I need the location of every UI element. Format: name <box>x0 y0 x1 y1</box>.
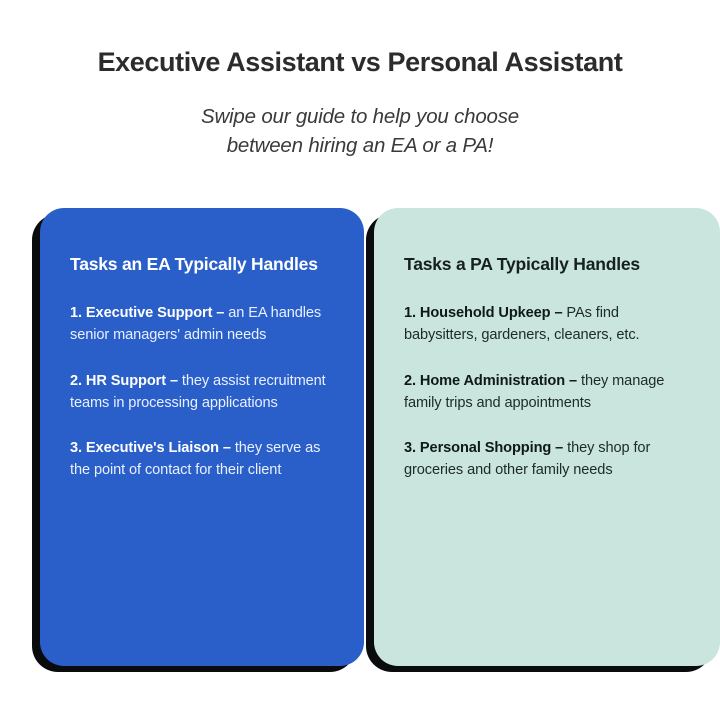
ea-task-item-2-lead: 2. HR Support – <box>70 373 178 389</box>
page-title: Executive Assistant vs Personal Assistan… <box>0 46 720 80</box>
cards-row: Tasks an EA Typically Handles 1. Executi… <box>0 208 720 720</box>
ea-card[interactable]: Tasks an EA Typically Handles 1. Executi… <box>40 208 364 666</box>
pa-task-item-1: 1. Household Upkeep – PAs find babysitte… <box>404 303 692 347</box>
pa-card-heading: Tasks a PA Typically Handles <box>404 252 692 277</box>
pa-task-item-2: 2. Home Administration – they manage fam… <box>404 371 692 415</box>
infographic-canvas: Executive Assistant vs Personal Assistan… <box>0 0 720 720</box>
pa-task-item-3-lead: 3. Personal Shopping – <box>404 440 563 456</box>
pa-task-item-3: 3. Personal Shopping – they shop for gro… <box>404 438 692 482</box>
ea-card-wrapper: Tasks an EA Typically Handles 1. Executi… <box>40 208 364 666</box>
pa-task-item-1-lead: 1. Household Upkeep – <box>404 305 562 321</box>
ea-card-heading: Tasks an EA Typically Handles <box>70 252 336 277</box>
ea-task-item-1: 1. Executive Support – an EA handles sen… <box>70 303 336 347</box>
pa-card-wrapper: Tasks a PA Typically Handles 1. Househol… <box>374 208 720 666</box>
ea-task-item-3-lead: 3. Executive's Liaison – <box>70 440 231 456</box>
ea-task-item-3: 3. Executive's Liaison – they serve as t… <box>70 438 336 482</box>
page-subtitle-line-2: between hiring an EA or a PA! <box>0 131 720 161</box>
ea-task-list: 1. Executive Support – an EA handles sen… <box>70 303 336 482</box>
page-subtitle: Swipe our guide to help you choose betwe… <box>0 102 720 161</box>
ea-task-item-1-lead: 1. Executive Support – <box>70 305 224 321</box>
ea-task-item-2: 2. HR Support – they assist recruitment … <box>70 371 336 415</box>
header: Executive Assistant vs Personal Assistan… <box>0 46 720 161</box>
pa-card[interactable]: Tasks a PA Typically Handles 1. Househol… <box>374 208 720 666</box>
pa-task-item-2-lead: 2. Home Administration – <box>404 373 577 389</box>
pa-task-list: 1. Household Upkeep – PAs find babysitte… <box>404 303 692 482</box>
page-subtitle-line-1: Swipe our guide to help you choose <box>0 102 720 132</box>
